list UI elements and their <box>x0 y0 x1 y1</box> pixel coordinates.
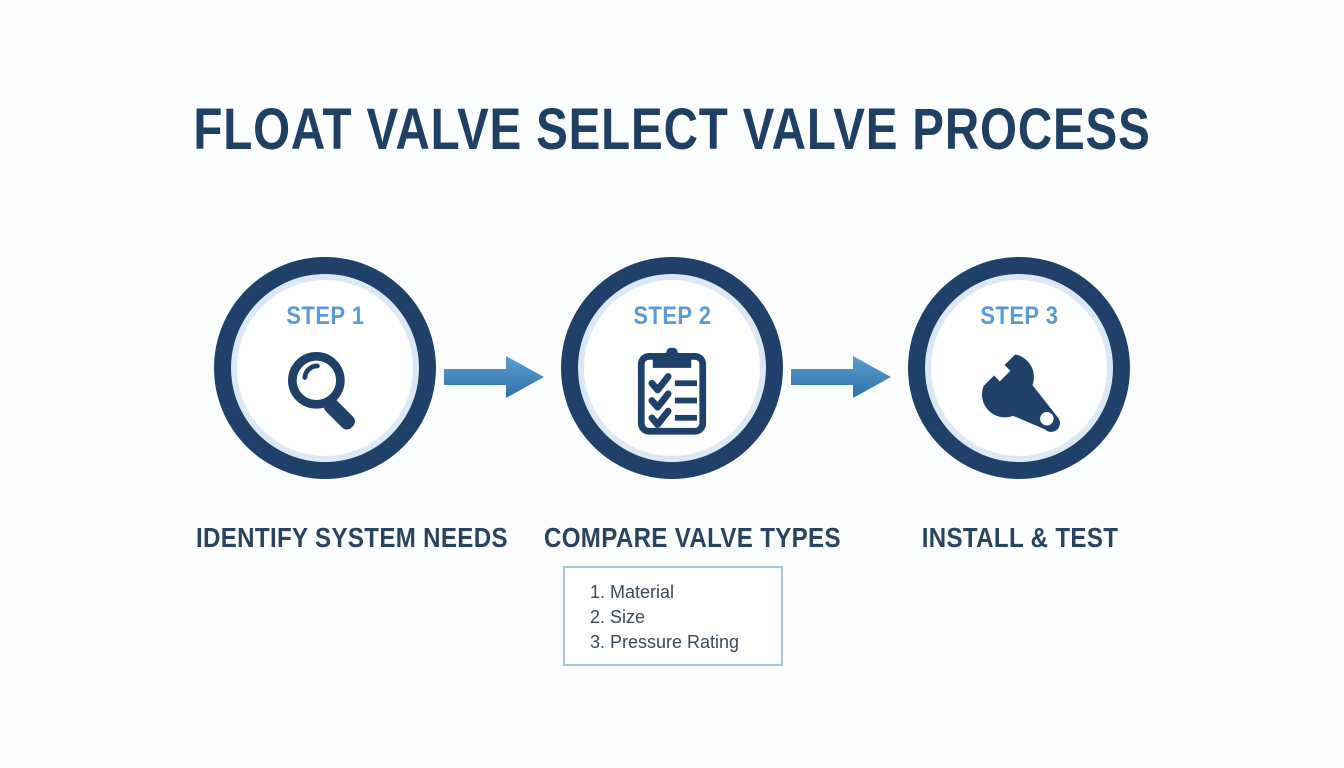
step-node-1[interactable]: STEP 1 <box>214 257 436 479</box>
step-2-label: STEP 2 <box>633 302 711 331</box>
step-node-3[interactable]: STEP 3 <box>908 257 1130 479</box>
step-3-caption: INSTALL & TEST <box>891 522 1149 554</box>
magnifier-icon <box>277 341 373 437</box>
wrench-icon <box>971 341 1067 437</box>
step-3-face: STEP 3 <box>931 280 1107 456</box>
step-2-caption: COMPARE VALVE TYPES <box>544 522 802 554</box>
step-2-face: STEP 2 <box>584 280 760 456</box>
list-item: 3. Pressure Rating <box>590 630 781 655</box>
arrow-step2-to-step3 <box>787 352 893 402</box>
list-item: 1. Material <box>590 580 781 605</box>
process-steps-row: STEP 1 STEP 2 <box>0 257 1344 482</box>
arrow-step1-to-step2 <box>440 352 546 402</box>
list-item: 2. Size <box>590 605 781 630</box>
infographic-canvas: FLOAT VALVE SELECT VALVE PROCESS STEP 1 … <box>0 0 1344 768</box>
clipboard-checklist-icon <box>624 341 720 437</box>
step-1-label: STEP 1 <box>286 302 364 331</box>
criteria-list-box: 1. Material 2. Size 3. Pressure Rating <box>563 566 783 666</box>
step-1-face: STEP 1 <box>237 280 413 456</box>
page-title: FLOAT VALVE SELECT VALVE PROCESS <box>121 96 1223 163</box>
step-node-2[interactable]: STEP 2 <box>561 257 783 479</box>
step-3-label: STEP 3 <box>980 302 1058 331</box>
step-1-caption: IDENTIFY SYSTEM NEEDS <box>196 522 454 554</box>
